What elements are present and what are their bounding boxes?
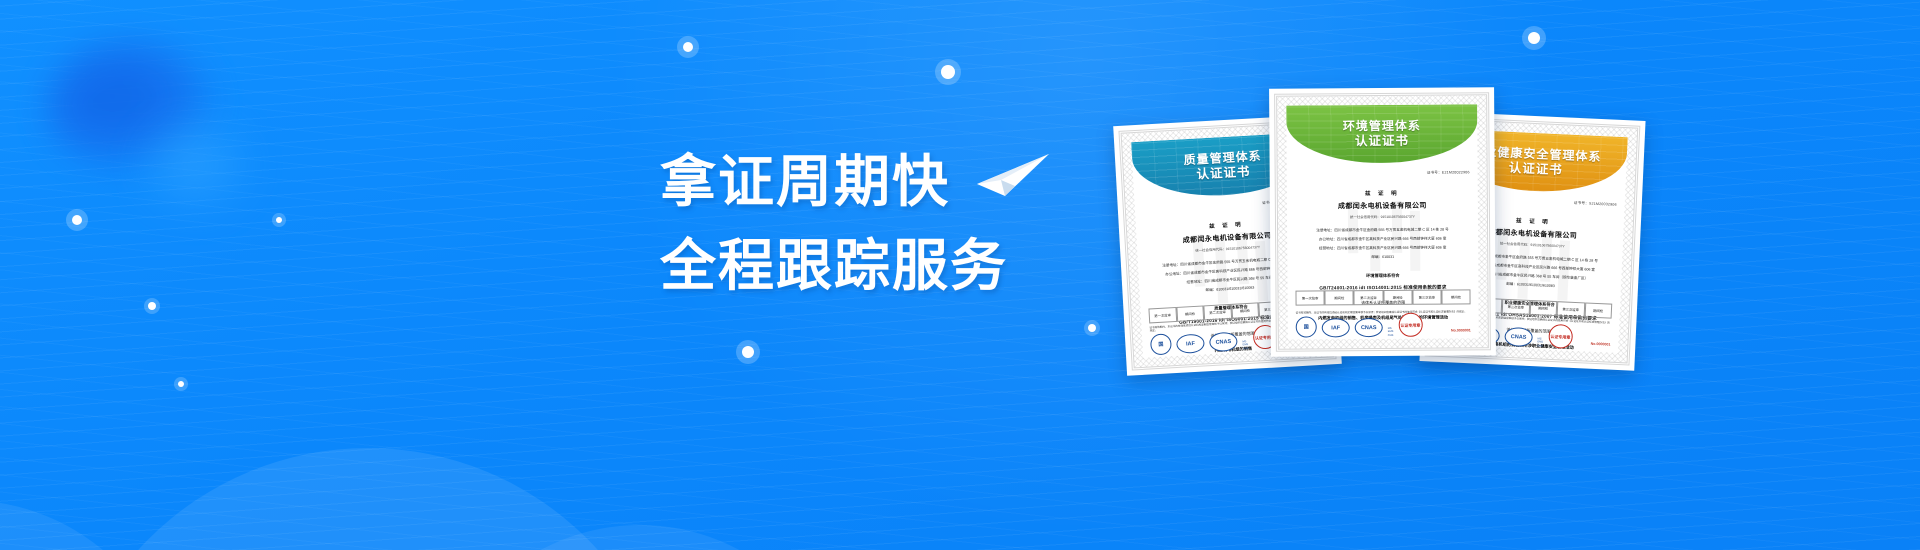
background-blob-light — [130, 110, 260, 220]
certificate-title-band: 环境管理体系 认证证书 — [1286, 104, 1477, 163]
dot-6 — [148, 302, 156, 310]
red-stamp-icon: 认证专用章 — [1548, 324, 1573, 349]
revision-cell: 期间检 — [1441, 289, 1470, 304]
accreditation-text: MSEMSOHS — [1388, 327, 1394, 337]
certificate-title-line-2: 认证证书 — [1508, 161, 1563, 178]
cert-environment[interactable]: 环境管理体系 认证证书 证书号：E21M20022906 兹 证 明 成都闰永电… — [1269, 87, 1496, 357]
certificate-heading: 兹 证 明 — [1287, 188, 1478, 197]
certificate-seals: 国 IAF CNAS MSEMSOHS 认证专用章 — [1296, 313, 1423, 338]
certificate-company: 成都闰永电机设备有限公司 — [1287, 200, 1478, 211]
dot-2 — [941, 65, 955, 79]
cqc-seal-icon: 国 — [1296, 316, 1317, 337]
dot-9 — [178, 381, 184, 387]
cnas-seal-icon: CNAS — [1504, 327, 1533, 347]
cqc-seal-icon: 国 — [1150, 333, 1172, 355]
revision-cell: 期间检 — [1325, 290, 1354, 305]
accreditation-text: MSEMSOHS — [1537, 337, 1543, 347]
revision-cell: 第二次监审 — [1354, 290, 1383, 305]
dot-1 — [683, 42, 693, 52]
certificate-number: 证书号：E21M20022906 — [1427, 170, 1470, 175]
certificate-system-label: 环境管理体系符合 — [1287, 272, 1478, 279]
revision-cell: 期间检 — [1176, 305, 1204, 322]
revision-cell: 期间检 — [1231, 302, 1259, 319]
certificate-title-line-2: 认证证书 — [1355, 134, 1409, 149]
cnas-seal-icon: CNAS — [1355, 318, 1383, 337]
cnas-seal-icon: CNAS — [1209, 332, 1238, 353]
certificate-address-1: 注册地址：四川省成都市金牛区金府路 555 号万贯五金机电城二期 C 区 14 … — [1293, 226, 1472, 234]
certificate-credit-code: 统一社会信用代码：91510106756004737Y — [1287, 213, 1478, 219]
accreditation-text: MSEMSOHS — [1242, 340, 1248, 351]
certificate-serial: No.0000001 — [1451, 328, 1471, 332]
certificate-border: 环境管理体系 认证证书 证书号：E21M20022906 兹 证 明 成都闰永电… — [1274, 92, 1491, 351]
revision-cell: 第二次监审 — [1502, 299, 1530, 315]
certificate-postcode: 邮编：610031 — [1293, 253, 1472, 261]
dot-4 — [276, 217, 282, 223]
certificate-number: 证书号：S21M20032906 — [1574, 201, 1617, 208]
revision-cell: 第三次监审 — [1557, 301, 1585, 317]
iaf-seal-icon: IAF — [1322, 318, 1350, 337]
headline-line-2: 全程跟踪服务 — [660, 224, 1090, 308]
certificate-serial: No.0000001 — [1591, 342, 1611, 347]
revision-cell: 第二次监审 — [1203, 304, 1231, 321]
dot-8 — [1088, 324, 1096, 332]
dot-5 — [72, 215, 82, 225]
revision-cell: 期间检 — [1383, 290, 1412, 305]
dot-7 — [742, 346, 754, 358]
hero-banner: 拿证周期快 全程跟踪服务 质量管理体系 认证证书 证书号：CT01M200129… — [0, 0, 1920, 550]
revision-cell: 第三次监审 — [1412, 290, 1441, 305]
revision-cell: 期间检 — [1529, 300, 1557, 316]
red-stamp-icon: 认证专用章 — [1398, 313, 1422, 337]
certificate-address-2: 办公地址：四川省成都市金牛区高科技产业区民兴路 666 号西部钟祥大厦 606 … — [1293, 235, 1472, 243]
paper-plane-icon — [975, 150, 1051, 202]
certificate-title-line-1: 环境管理体系 — [1343, 119, 1421, 135]
revision-cell: 第一次监审 — [1148, 307, 1176, 324]
certificate-revision-table: 第一次监审期间检第二次监审期间检第三次监审期间检 — [1295, 289, 1470, 305]
certificate-content: 环境管理体系 认证证书 证书号：E21M20022906 兹 证 明 成都闰永电… — [1286, 104, 1479, 339]
revision-cell: 期间检 — [1584, 302, 1612, 318]
certificate-title-line-2: 认证证书 — [1196, 165, 1251, 183]
certificate-group: 质量管理体系 认证证书 证书号：CT01M20012906 兹 证 明 成都闰永… — [1120, 0, 1920, 550]
revision-cell: 第一次监审 — [1295, 290, 1324, 305]
certificate-address-3: 经营地址：四川省成都市金牛区高科技产业区民兴路 666 号西部钟祥大厦 606 … — [1293, 244, 1472, 252]
iaf-seal-icon: IAF — [1176, 333, 1205, 354]
